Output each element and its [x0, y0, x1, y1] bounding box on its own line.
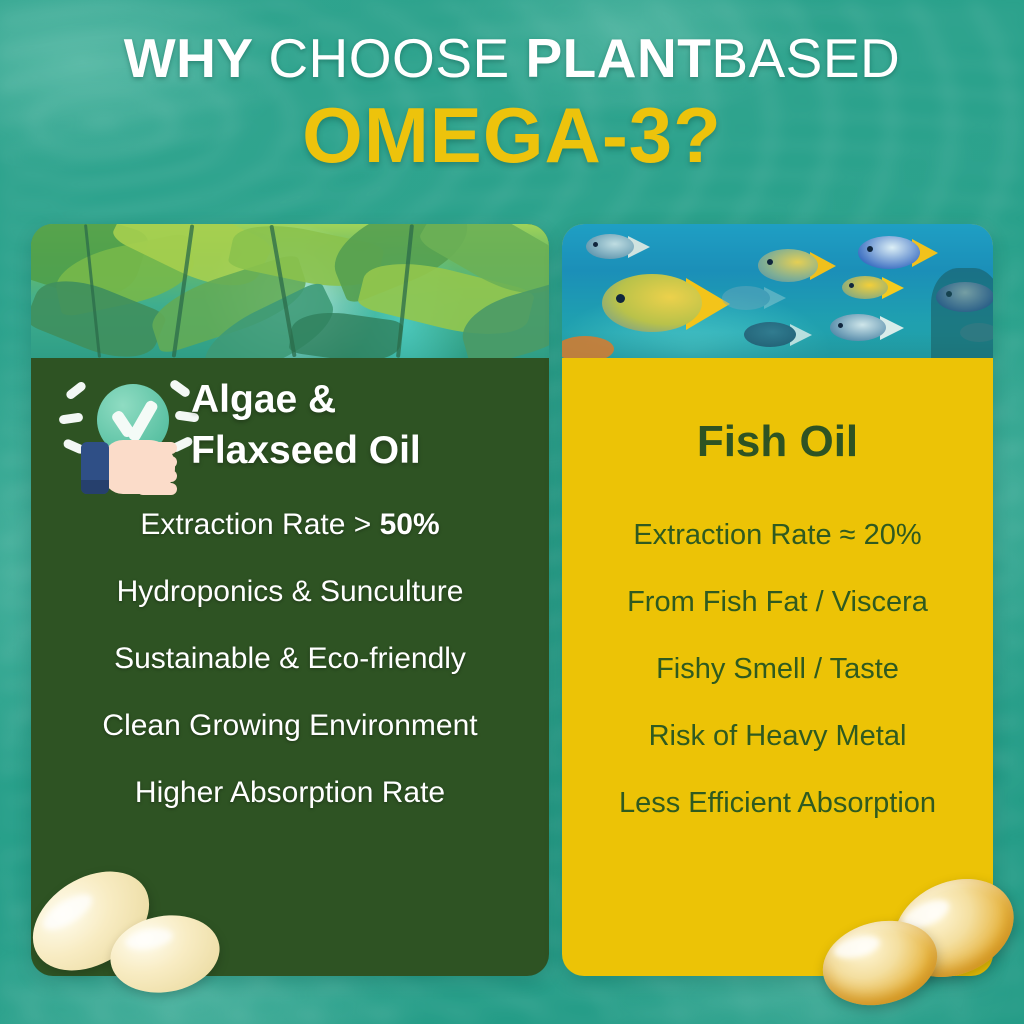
card-plant-based-title: Algae & Flaxseed Oil [191, 374, 527, 476]
card-plant-based-title-line1: Algae & [191, 374, 527, 425]
list-item: From Fish Fat / Viscera [562, 585, 993, 619]
card-fish-oil-title: Fish Oil [697, 417, 858, 467]
card-plant-based-heading: Algae & Flaxseed Oil [31, 374, 549, 490]
list-item: Risk of Heavy Metal [562, 719, 993, 753]
fish-icon [586, 232, 652, 262]
fish-icon [858, 234, 942, 272]
list-item: Less Efficient Absorption [562, 786, 993, 820]
coral-icon [562, 336, 614, 358]
reef-rock-icon [931, 268, 993, 358]
infographic-canvas: WHY CHOOSE PLANTBASED OMEGA-3? [0, 0, 1024, 1024]
checkmark-icon [106, 398, 160, 442]
list-item: Higher Absorption Rate [31, 776, 549, 810]
headline-based: BASED [711, 27, 900, 89]
headline-line-1: WHY CHOOSE PLANTBASED [0, 28, 1024, 88]
list-item-text: Extraction Rate > [140, 508, 379, 541]
tropical-fish-underwater-photo [562, 224, 993, 358]
card-fish-oil[interactable]: Fish Oil Extraction Rate ≈ 20% From Fish… [562, 224, 993, 976]
fish-icon [722, 284, 788, 312]
cream-softgel-capsules [14, 868, 264, 1018]
list-item: Clean Growing Environment [31, 709, 549, 743]
list-item: Sustainable & Eco-friendly [31, 642, 549, 676]
list-item: Extraction Rate > 50% [31, 508, 549, 542]
kelp-forest-photo [31, 224, 549, 358]
hand-holding-magnifier-check-icon [59, 378, 189, 494]
amber-softgel-capsules [806, 878, 1022, 1024]
fish-icon [842, 274, 906, 302]
kelp-illustration [31, 224, 549, 358]
fish-icon [744, 320, 816, 350]
fish-icon [830, 312, 908, 344]
comparison-cards: Algae & Flaxseed Oil Extraction Rate > 5… [0, 224, 1024, 976]
card-plant-based[interactable]: Algae & Flaxseed Oil Extraction Rate > 5… [31, 224, 549, 976]
card-fish-oil-heading: Fish Oil [562, 384, 993, 500]
hand-icon [81, 440, 177, 494]
headline-choose: CHOOSE [268, 27, 525, 89]
fish-icon [758, 246, 838, 286]
ocean-illustration [562, 224, 993, 358]
headline-plant: PLANT [525, 27, 711, 89]
card-fish-oil-drawback-list: Extraction Rate ≈ 20% From Fish Fat / Vi… [562, 518, 993, 820]
list-item: Fishy Smell / Taste [562, 652, 993, 686]
headline-why: WHY [124, 27, 269, 89]
list-item-emphasis: 50% [380, 508, 440, 541]
header: WHY CHOOSE PLANTBASED OMEGA-3? [0, 28, 1024, 178]
fish-icon [602, 270, 732, 338]
list-item: Hydroponics & Sunculture [31, 575, 549, 609]
headline-line-2: OMEGA-3? [0, 92, 1024, 178]
card-plant-based-title-line2: Flaxseed Oil [191, 425, 527, 476]
list-item: Extraction Rate ≈ 20% [562, 518, 993, 552]
card-plant-based-benefit-list: Extraction Rate > 50% Hydroponics & Sunc… [31, 508, 549, 810]
